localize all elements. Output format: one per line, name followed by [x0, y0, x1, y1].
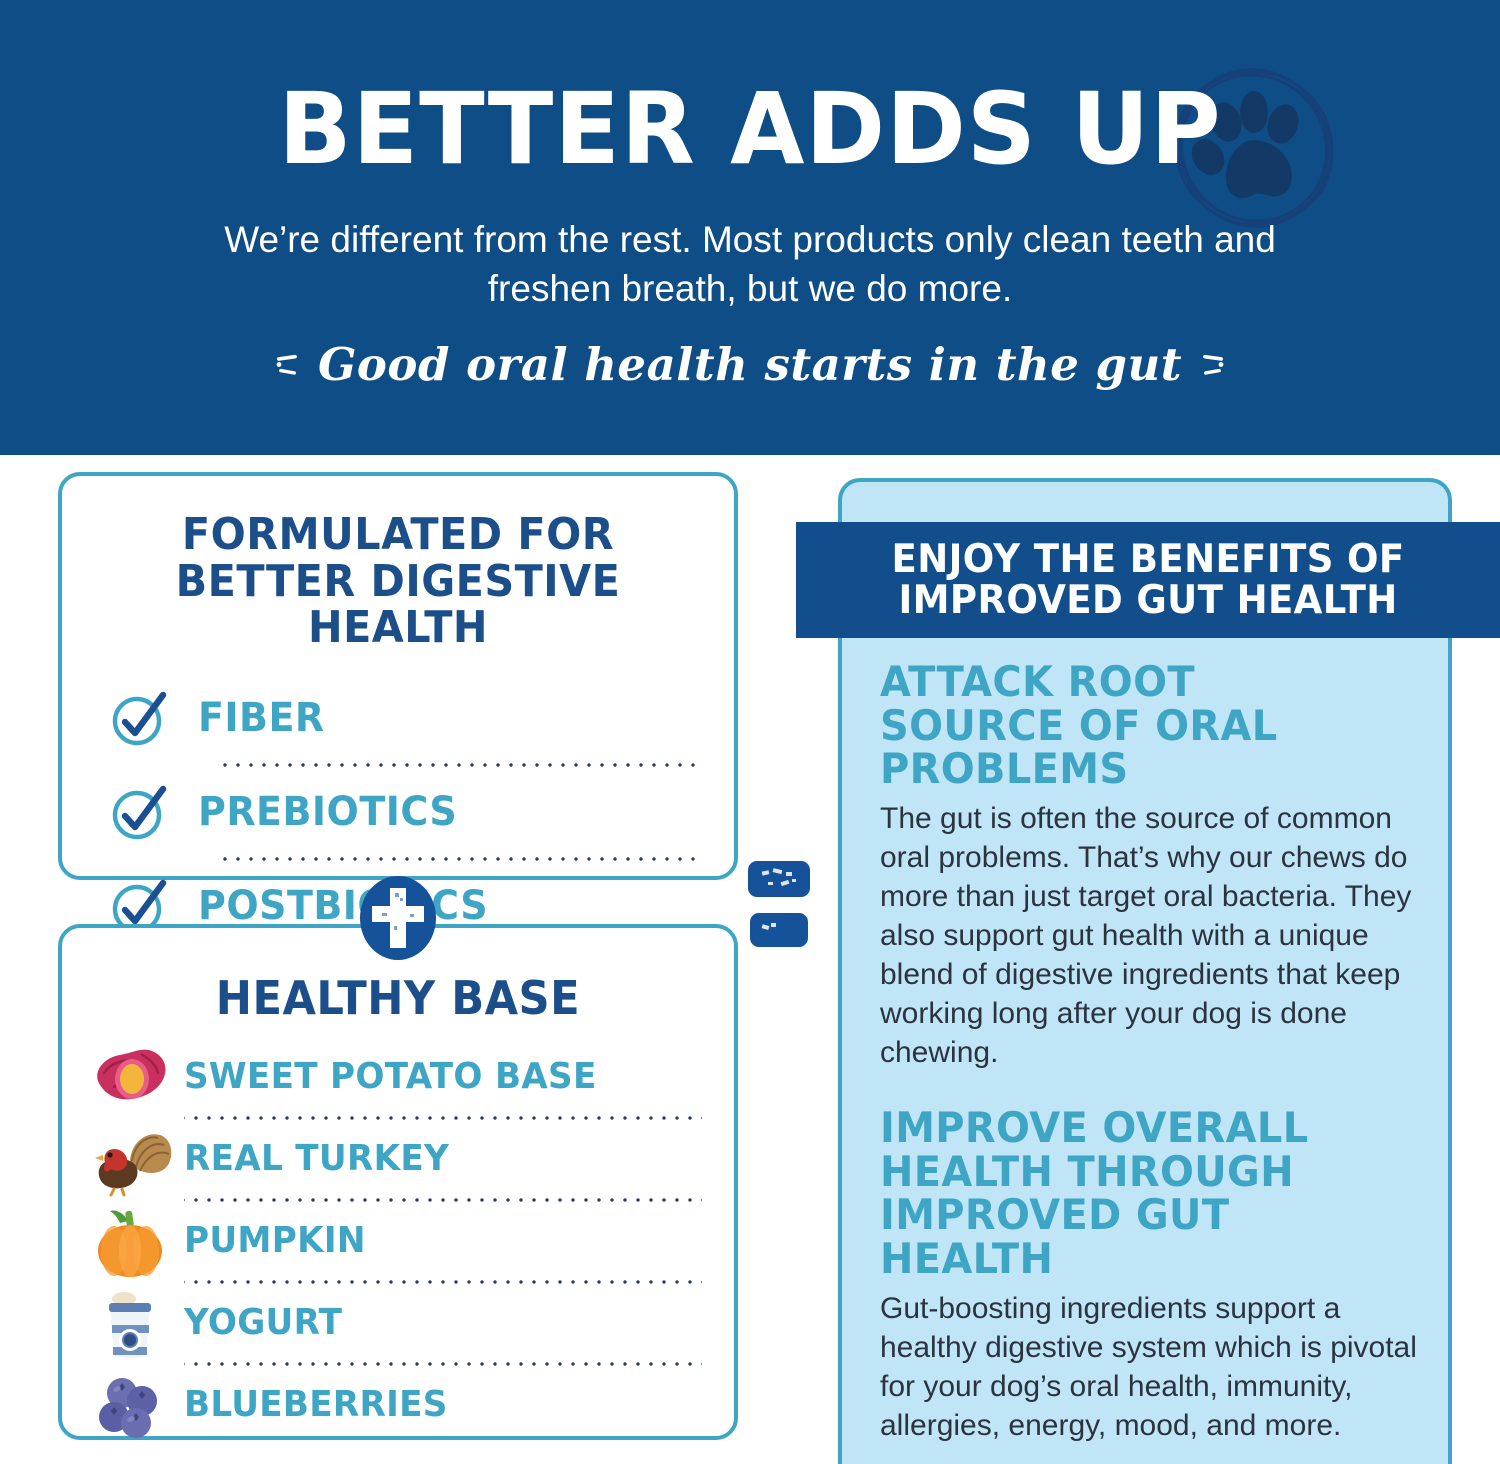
benefits-ribbon-line-1: ENJOY THE BENEFITS OF: [891, 539, 1404, 580]
check-circle-icon: [108, 781, 170, 843]
healthy-base-card: HEALTHY BASE SWEET POTATO BASE: [58, 924, 738, 1440]
list-item-label: PREBIOTICS: [198, 789, 457, 835]
benefit-title: IMPROVE OVERALL HEALTH THROUGH IMPROVED …: [880, 1106, 1393, 1281]
equals-sign-icon: [748, 855, 810, 955]
pumpkin-icon: [84, 1203, 176, 1279]
list-item: BLUEBERRIES: [84, 1367, 712, 1443]
list-item-label: REAL TURKEY: [184, 1138, 449, 1179]
benefit-title: ATTACK ROOT SOURCE OF ORAL PROBLEMS: [880, 660, 1393, 791]
benefit-block: IMPROVE OVERALL HEALTH THROUGH IMPROVED …: [880, 1106, 1420, 1445]
healthy-base-card-title: HEALTHY BASE: [103, 974, 693, 1023]
formulated-card: FORMULATED FOR BETTER DIGESTIVE HEALTH F…: [58, 472, 738, 880]
formulated-card-title: FORMULATED FOR BETTER DIGESTIVE HEALTH: [107, 512, 690, 652]
list-item: PUMPKIN: [84, 1203, 712, 1279]
left-column: FORMULATED FOR BETTER DIGESTIVE HEALTH F…: [58, 472, 738, 1440]
header-subhead: We’re different from the rest. Most prod…: [185, 215, 1315, 313]
healthy-base-list: SWEET POTATO BASE: [84, 1039, 712, 1443]
benefits-ribbon-text: ENJOY THE BENEFITS OF IMPROVED GUT HEALT…: [891, 539, 1404, 622]
header-tagline: Good oral health starts in the gut: [318, 338, 1182, 391]
benefit-text: Gut-boosting ingredients support a healt…: [880, 1289, 1420, 1445]
list-item-label: FIBER: [198, 695, 325, 741]
list-item-label: SWEET POTATO BASE: [184, 1056, 597, 1097]
header-tagline-row: Good oral health starts in the gut: [0, 338, 1500, 391]
benefit-text: The gut is often the source of common or…: [880, 799, 1420, 1072]
infographic-page: BETTER ADDS UP We’re different from the …: [0, 0, 1500, 1464]
page-title-text: BETTER ADDS UP: [278, 80, 1221, 179]
list-item: YOGURT: [84, 1285, 712, 1361]
list-item: SWEET POTATO BASE: [84, 1039, 712, 1115]
benefits-ribbon: ENJOY THE BENEFITS OF IMPROVED GUT HEALT…: [796, 522, 1500, 638]
list-item: PREBIOTICS: [108, 768, 708, 856]
page-title: BETTER ADDS UP: [23, 80, 1478, 179]
benefits-body: ATTACK ROOT SOURCE OF ORAL PROBLEMS The …: [880, 660, 1420, 1445]
plus-badge-icon: [360, 876, 436, 960]
blueberries-icon: [84, 1367, 176, 1443]
list-item-label: PUMPKIN: [184, 1220, 366, 1261]
benefits-ribbon-line-2: IMPROVED GUT HEALTH: [891, 580, 1404, 621]
list-item-label: POSTBIOTICS: [198, 883, 488, 929]
benefits-panel: ENJOY THE BENEFITS OF IMPROVED GUT HEALT…: [838, 478, 1452, 1464]
list-item-label: BLUEBERRIES: [184, 1384, 448, 1425]
list-item: FIBER: [108, 674, 708, 762]
yogurt-cup-icon: [84, 1285, 176, 1361]
flourish-mark-left-icon: [274, 344, 300, 386]
list-item-label: YOGURT: [184, 1302, 342, 1343]
sweet-potato-icon: [84, 1039, 176, 1115]
flourish-mark-right-icon: [1200, 344, 1226, 386]
list-item: REAL TURKEY: [84, 1121, 712, 1197]
benefit-block: ATTACK ROOT SOURCE OF ORAL PROBLEMS The …: [880, 660, 1420, 1072]
header-banner: BETTER ADDS UP We’re different from the …: [0, 0, 1500, 455]
check-circle-icon: [108, 687, 170, 749]
turkey-icon: [84, 1121, 176, 1197]
